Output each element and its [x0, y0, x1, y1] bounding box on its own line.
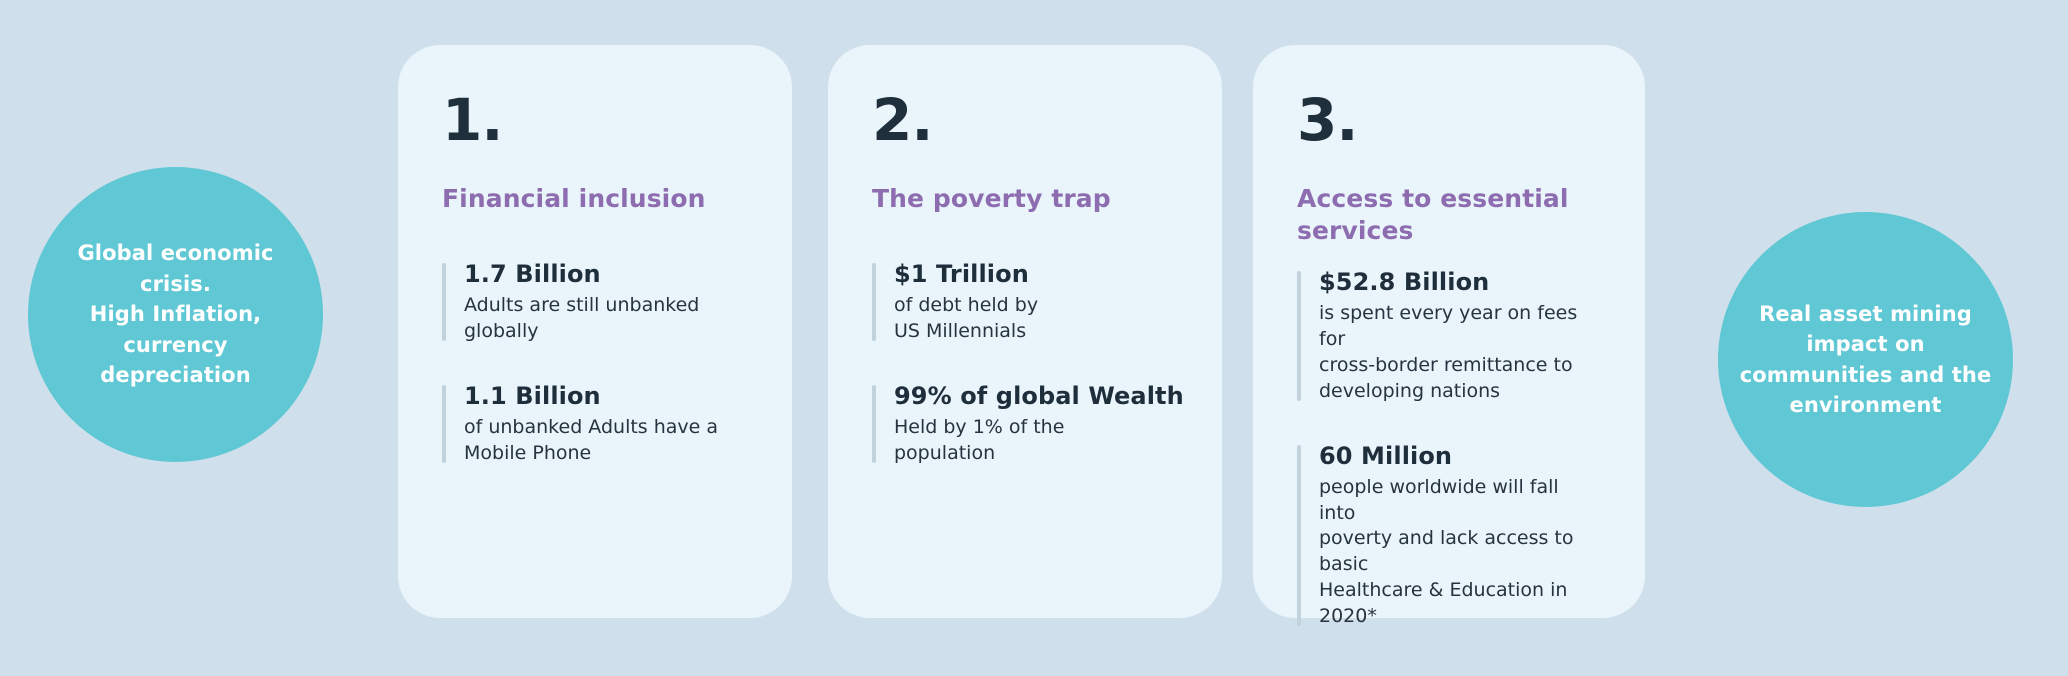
right-circle-text: Real asset mining impact on communities … [1726, 299, 2006, 421]
stat-accent-bar [872, 385, 876, 463]
stat-value: 1.7 Billion [464, 259, 748, 290]
card-3-title: Access to essential services [1297, 183, 1601, 247]
stat-accent-bar [1297, 445, 1301, 626]
card-1-stats: 1.7 Billion Adults are still unbanked gl… [442, 259, 748, 467]
stat-accent-bar [442, 385, 446, 463]
stat-description: of unbanked Adults have a Mobile Phone [464, 415, 748, 467]
left-problem-circle: Global economic crisis. High Inflation, … [28, 167, 323, 462]
card-3-number: 3. [1297, 91, 1601, 149]
stat-item: 60 Million people worldwide will fall in… [1297, 441, 1601, 630]
stat-value: $1 Trillion [894, 259, 1178, 290]
stat-item: $52.8 Billion is spent every year on fee… [1297, 267, 1601, 405]
stat-accent-bar [1297, 271, 1301, 401]
stat-value: 1.1 Billion [464, 381, 748, 412]
stat-value: 99% of global Wealth [894, 381, 1178, 412]
card-3-stats: $52.8 Billion is spent every year on fee… [1297, 267, 1601, 630]
card-financial-inclusion: 1. Financial inclusion 1.7 Billion Adult… [398, 45, 792, 618]
stat-value: 60 Million [1319, 441, 1601, 472]
stat-value: $52.8 Billion [1319, 267, 1601, 298]
stat-description: is spent every year on fees for cross-bo… [1319, 301, 1601, 404]
stat-item: $1 Trillion of debt held by US Millennia… [872, 259, 1178, 345]
stat-item: 99% of global Wealth Held by 1% of the p… [872, 381, 1178, 467]
stat-accent-bar [442, 263, 446, 341]
stat-accent-bar [872, 263, 876, 341]
stat-item: 1.1 Billion of unbanked Adults have a Mo… [442, 381, 748, 467]
card-2-title: The poverty trap [872, 183, 1178, 215]
stat-description: Adults are still unbanked globally [464, 293, 748, 345]
card-access-to-essential-services: 3. Access to essential services $52.8 Bi… [1253, 45, 1645, 618]
card-poverty-trap: 2. The poverty trap $1 Trillion of debt … [828, 45, 1222, 618]
card-2-number: 2. [872, 91, 1178, 149]
infographic-canvas: Global economic crisis. High Inflation, … [0, 0, 2068, 676]
left-circle-text: Global economic crisis. High Inflation, … [63, 238, 287, 390]
right-impact-circle: Real asset mining impact on communities … [1718, 212, 2013, 507]
stat-item: 1.7 Billion Adults are still unbanked gl… [442, 259, 748, 345]
stat-description: Held by 1% of the population [894, 415, 1178, 467]
card-1-title: Financial inclusion [442, 183, 748, 215]
stat-description: of debt held by US Millennials [894, 293, 1178, 345]
card-2-stats: $1 Trillion of debt held by US Millennia… [872, 259, 1178, 467]
stat-description: people worldwide will fall into poverty … [1319, 475, 1601, 630]
card-1-number: 1. [442, 91, 748, 149]
